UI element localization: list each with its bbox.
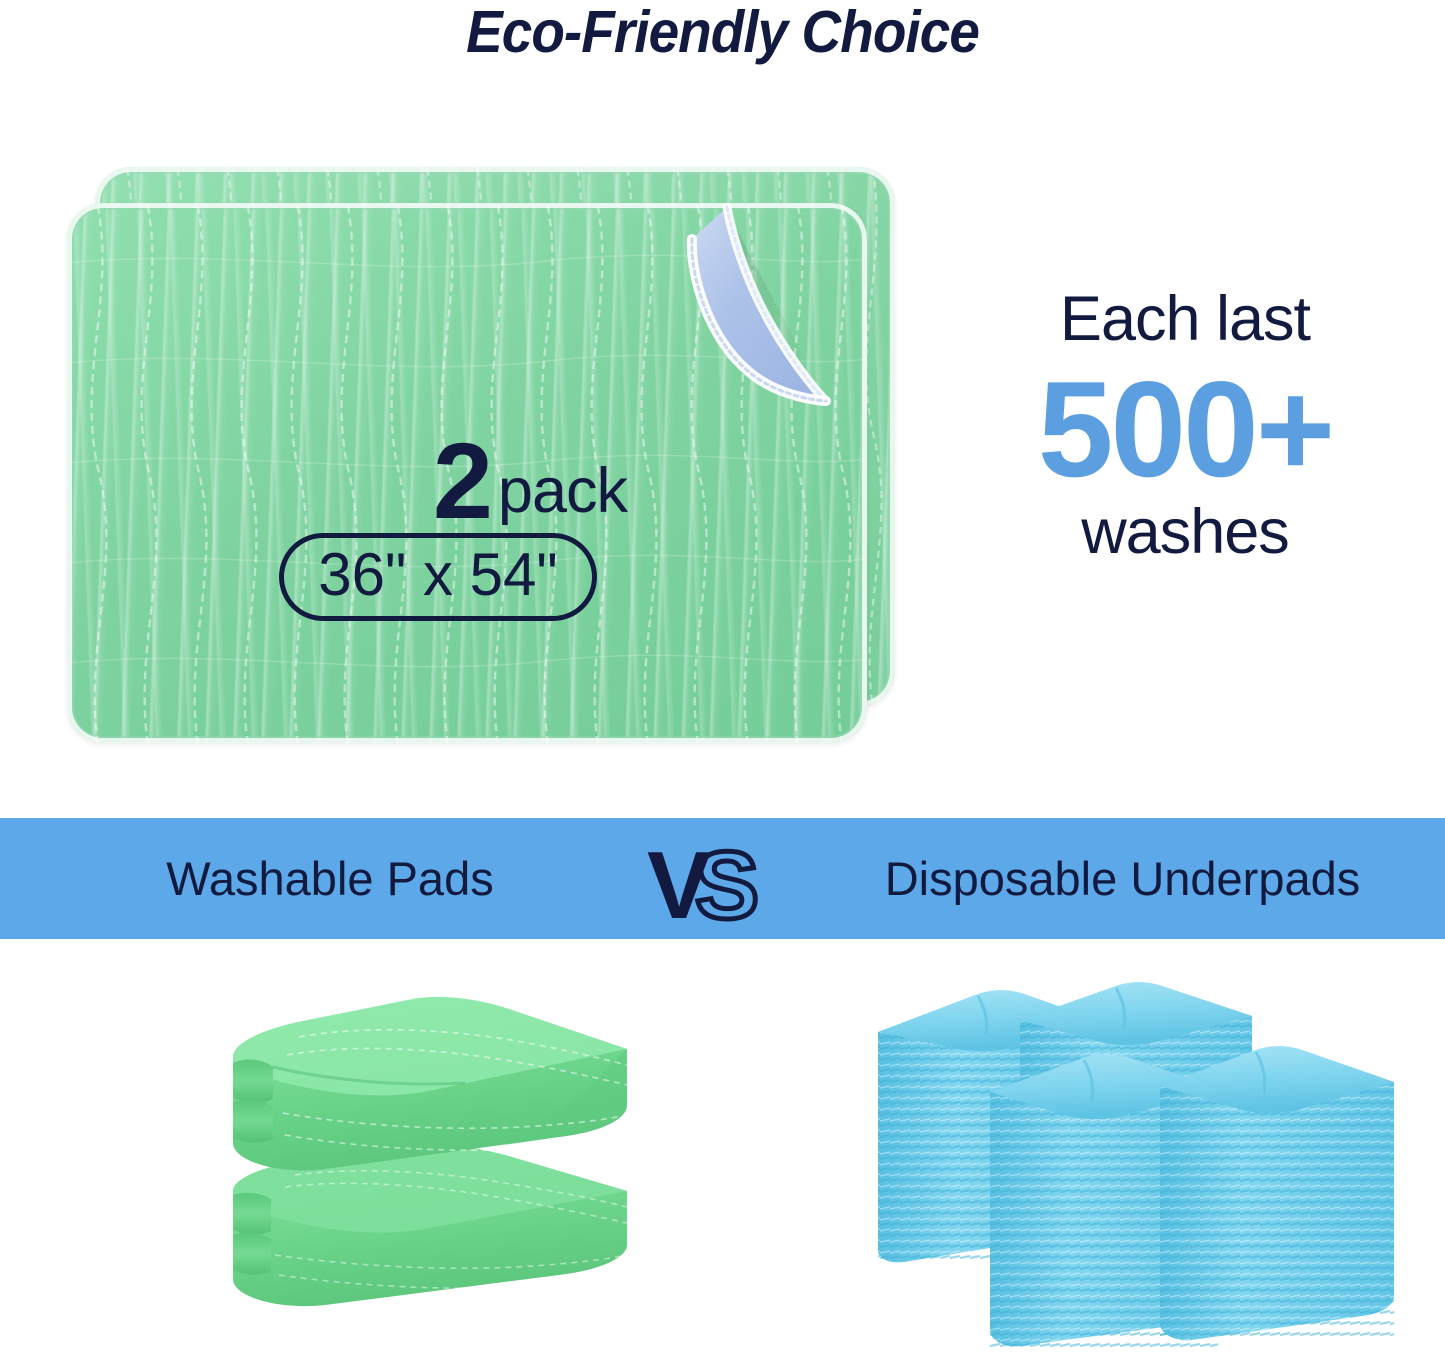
pack-count-label: 2pack	[67, 418, 627, 543]
washable-pads-image	[175, 979, 655, 1319]
claim-line-1: Each last	[975, 288, 1395, 351]
size-badge-label: 36" x 54"	[318, 545, 557, 605]
comparison-product-images	[0, 939, 1445, 1370]
pad-overlay-text: 2pack 36" x 54"	[67, 203, 867, 743]
vs-icon: V S	[645, 838, 820, 928]
claim-line-3: washes	[975, 501, 1395, 564]
page-title: Eco-Friendly Choice	[51, 0, 1395, 68]
disposable-underpads-image	[860, 974, 1415, 1349]
durability-claim: Each last 500+ washes	[975, 288, 1395, 564]
comparison-right-label: Disposable Underpads	[800, 818, 1445, 939]
svg-text:S: S	[695, 838, 759, 928]
comparison-left-label: Washable Pads	[0, 818, 660, 939]
claim-highlight: 500+	[975, 361, 1395, 497]
pack-count-number: 2	[433, 420, 490, 541]
comparison-banner: Washable Pads V S Disposable Underpads	[0, 818, 1445, 939]
hero-product-image: 2pack 36" x 54"	[0, 120, 960, 760]
size-badge: 36" x 54"	[279, 533, 597, 621]
pack-count-word: pack	[498, 456, 627, 526]
